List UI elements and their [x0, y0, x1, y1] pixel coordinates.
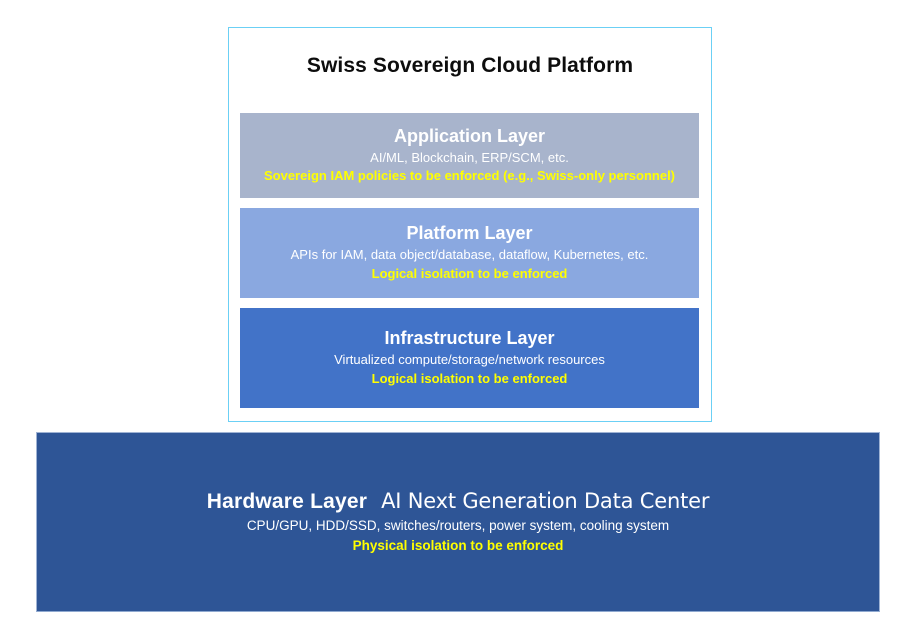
- application-layer-note: Sovereign IAM policies to be enforced (e…: [264, 168, 675, 185]
- hardware-layer-heading-main: Hardware Layer: [207, 490, 367, 513]
- layer-block-application: Application Layer AI/ML, Blockchain, ERP…: [240, 113, 699, 198]
- application-layer-heading: Application Layer: [394, 126, 545, 148]
- application-layer-subtitle: AI/ML, Blockchain, ERP/SCM, etc.: [370, 150, 569, 167]
- hardware-layer-note: Physical isolation to be enforced: [353, 537, 564, 555]
- diagram-canvas: Swiss Sovereign Cloud Platform Applicati…: [0, 0, 915, 631]
- hardware-layer-heading-alt: AI Next Generation Data Center: [381, 489, 709, 513]
- platform-layer-heading: Platform Layer: [406, 223, 532, 245]
- platform-layer-note: Logical isolation to be enforced: [372, 266, 568, 283]
- hardware-layer-subtitle: CPU/GPU, HDD/SSD, switches/routers, powe…: [247, 517, 669, 535]
- layer-block-infrastructure: Infrastructure Layer Virtualized compute…: [240, 308, 699, 408]
- hardware-layer-heading: Hardware LayerAI Next Generation Data Ce…: [207, 489, 710, 514]
- infrastructure-layer-heading: Infrastructure Layer: [384, 328, 554, 350]
- layer-block-platform: Platform Layer APIs for IAM, data object…: [240, 208, 699, 298]
- page-title: Swiss Sovereign Cloud Platform: [229, 54, 711, 78]
- layer-block-hardware: Hardware LayerAI Next Generation Data Ce…: [36, 432, 880, 612]
- infrastructure-layer-note: Logical isolation to be enforced: [372, 371, 568, 388]
- infrastructure-layer-subtitle: Virtualized compute/storage/network reso…: [334, 352, 605, 369]
- platform-container: Swiss Sovereign Cloud Platform Applicati…: [228, 27, 712, 422]
- platform-layer-subtitle: APIs for IAM, data object/database, data…: [291, 247, 649, 264]
